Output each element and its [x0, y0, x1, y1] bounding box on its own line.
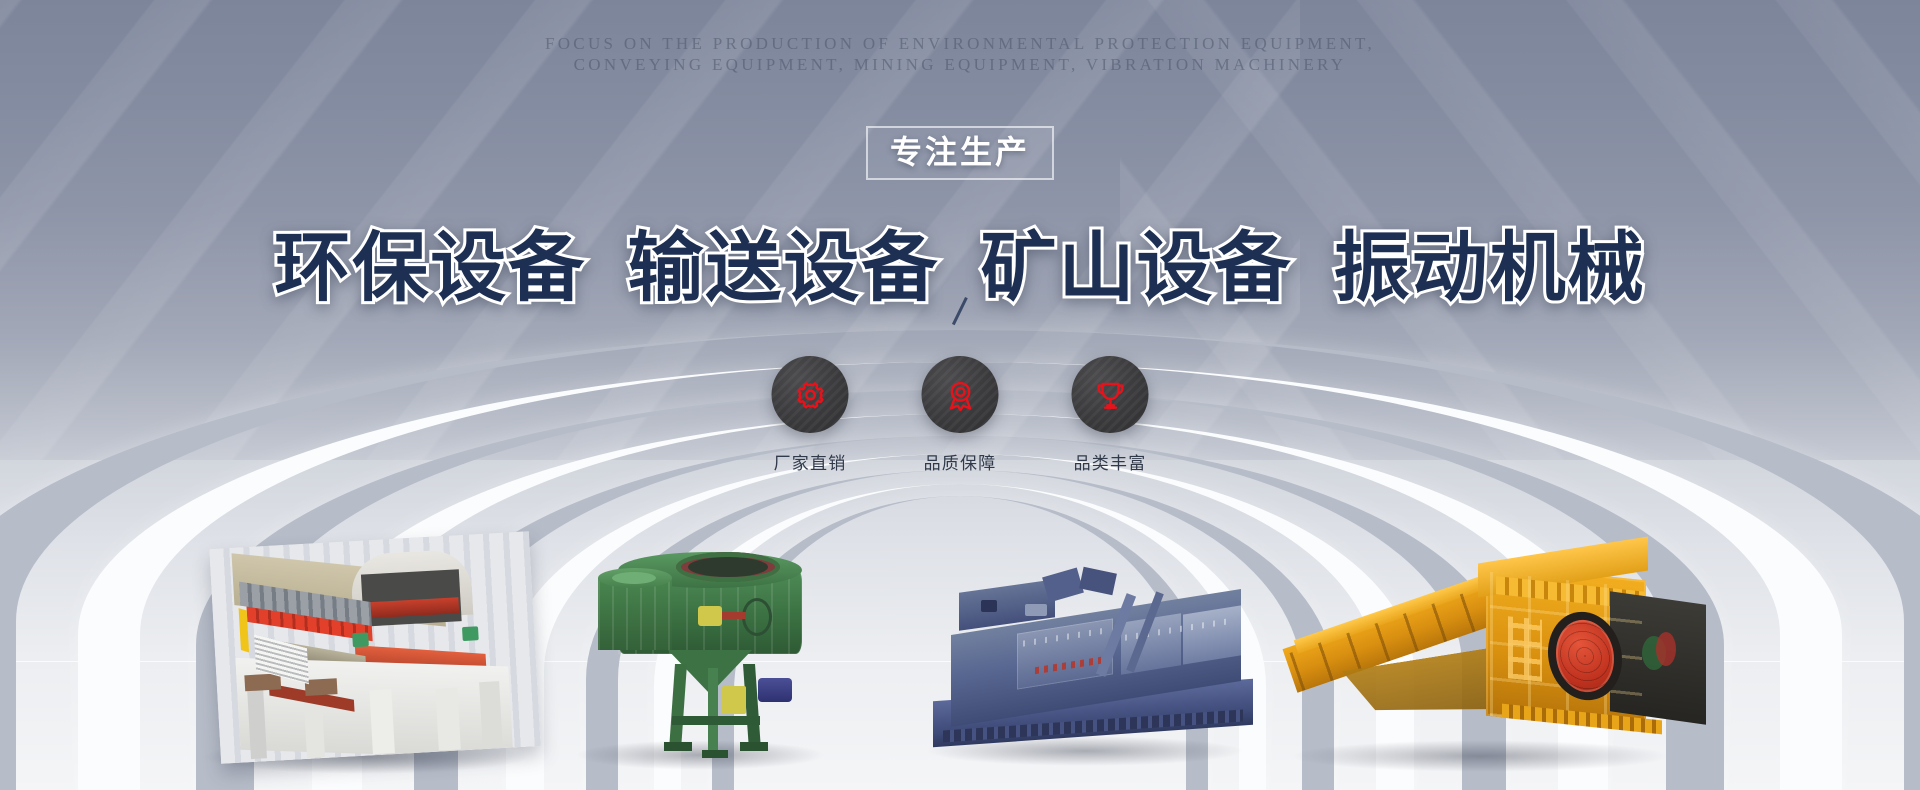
feature-icon-circle [772, 356, 849, 433]
product-image-green-mixer [590, 538, 820, 760]
product-image-filter-press [209, 531, 541, 764]
headline-word-4: 振动机械 [1334, 226, 1646, 311]
product-image-yellow-feeder-crusher [1290, 540, 1710, 760]
english-tagline-line-2: CONVEYING EQUIPMENT, MINING EQUIPMENT, V… [0, 55, 1920, 75]
feature-label: 品类丰富 [1074, 449, 1147, 474]
feature-label: 品质保障 [924, 449, 997, 474]
trophy-icon [1091, 376, 1129, 414]
feature-list: 厂家直销 品质保障 [772, 356, 1149, 474]
page-title: 环保设备 输送设备 矿山设备 振动机械 [0, 206, 1920, 316]
product-image-blue-vibrating-screen [925, 570, 1265, 750]
headline-word-2: 输送设备 [627, 226, 939, 311]
focus-production-badge: 专注生产 [866, 126, 1054, 180]
medal-icon [941, 376, 979, 414]
headline-word-3: 矿山设备 [981, 226, 1293, 311]
badge-label: 专注生产 [890, 134, 1030, 170]
feature-icon-circle [922, 356, 999, 433]
feature-icon-circle [1072, 356, 1149, 433]
feature-item-factory-direct[interactable]: 厂家直销 [772, 356, 849, 474]
english-tagline-line-1: FOCUS ON THE PRODUCTION OF ENVIRONMENTAL… [0, 34, 1920, 54]
gear-icon [791, 376, 829, 414]
headline-word-1: 环保设备 [274, 226, 586, 311]
feature-label: 厂家直销 [774, 449, 847, 474]
feature-item-rich-variety[interactable]: 品类丰富 [1072, 356, 1149, 474]
hero-banner: FOCUS ON THE PRODUCTION OF ENVIRONMENTAL… [0, 0, 1920, 790]
feature-item-quality-guarantee[interactable]: 品质保障 [922, 356, 999, 474]
